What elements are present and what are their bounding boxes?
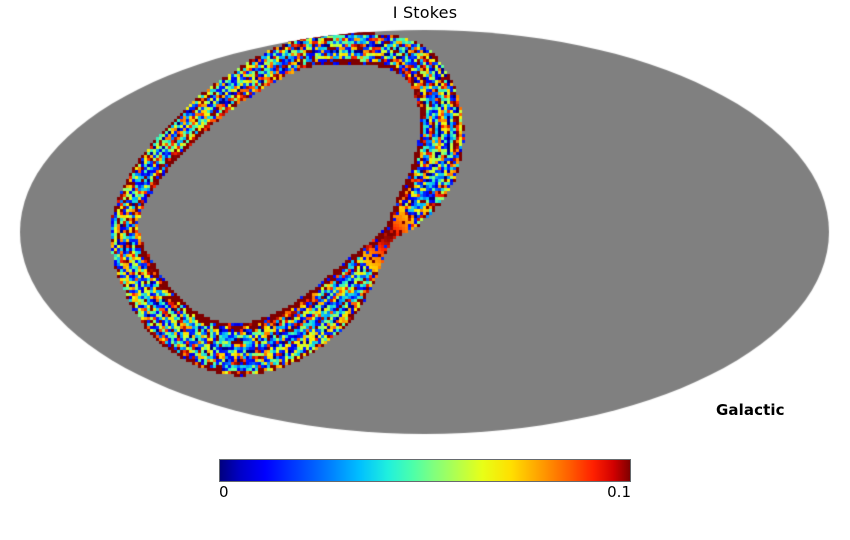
sky-map-mollweide-projection[interactable] [0,26,850,438]
page-title: I Stokes [0,3,850,23]
colorbar-tick-max: 0.1 [531,483,631,501]
mollview-figure: I Stokes Galactic 0 0.1 [0,0,850,540]
coordinate-system-label: Galactic [716,401,785,419]
colorbar[interactable] [219,459,631,482]
colorbar-tick-min: 0 [219,483,229,501]
colorbar-gradient [219,459,631,482]
